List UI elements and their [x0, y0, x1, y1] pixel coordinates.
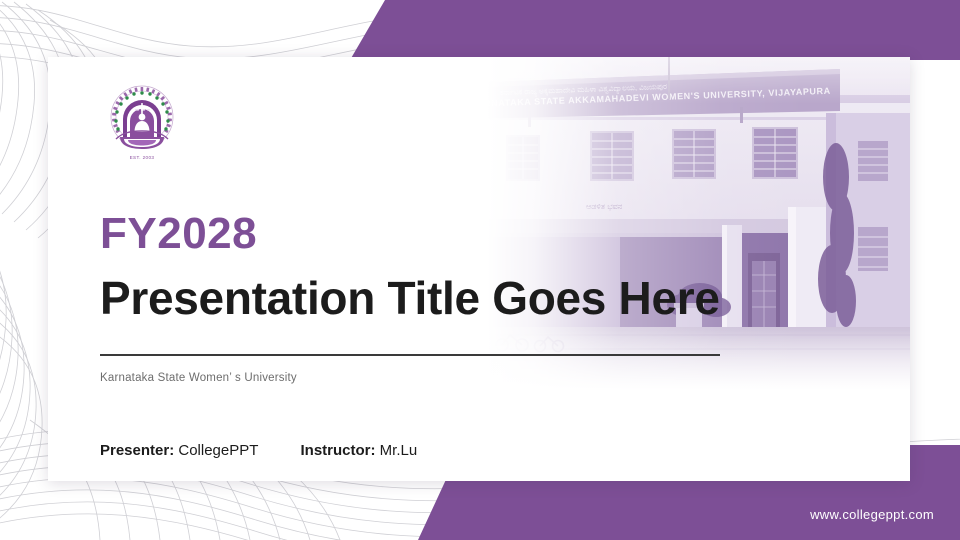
svg-text:ಆಡಳಿತ ಭವನ: ಆಡಳಿತ ಭವನ: [586, 202, 623, 211]
presenter-name: CollegePPT: [178, 442, 258, 459]
page-title: Presentation Title Goes Here: [100, 274, 720, 322]
fiscal-year-label: FY2028: [100, 212, 720, 256]
organization-subtitle: Karnataka State Women’ s University: [100, 372, 297, 384]
headline-block: FY2028 Presentation Title Goes Here: [100, 212, 720, 322]
logo-established-text: EST. 2003: [130, 155, 155, 160]
title-divider-rule: [100, 354, 720, 356]
slide-card: ಕರ್ನಾಟಕ ರಾಜ್ಯ ಅಕ್ಕಮಹಾದೇವಿ ಮಹಿಳಾ ವಿಶ್ವವಿದ…: [48, 57, 910, 481]
instructor-name: Mr.Lu: [380, 442, 418, 459]
credits-line: Presenter: CollegePPT Instructor: Mr.Lu: [100, 442, 417, 459]
instructor-label: Instructor:: [301, 442, 376, 459]
top-purple-band: [0, 0, 960, 60]
presenter-label: Presenter:: [100, 442, 174, 459]
presentation-slide: ಕರ್ನಾಟಕ ರಾಜ್ಯ ಅಕ್ಕಮಹಾದೇವಿ ಮಹಿಳಾ ವಿಶ್ವವಿದ…: [0, 0, 960, 540]
footer-website-url[interactable]: www.collegeppt.com: [810, 507, 934, 522]
university-crest-logo: EST. 2003: [106, 79, 178, 165]
